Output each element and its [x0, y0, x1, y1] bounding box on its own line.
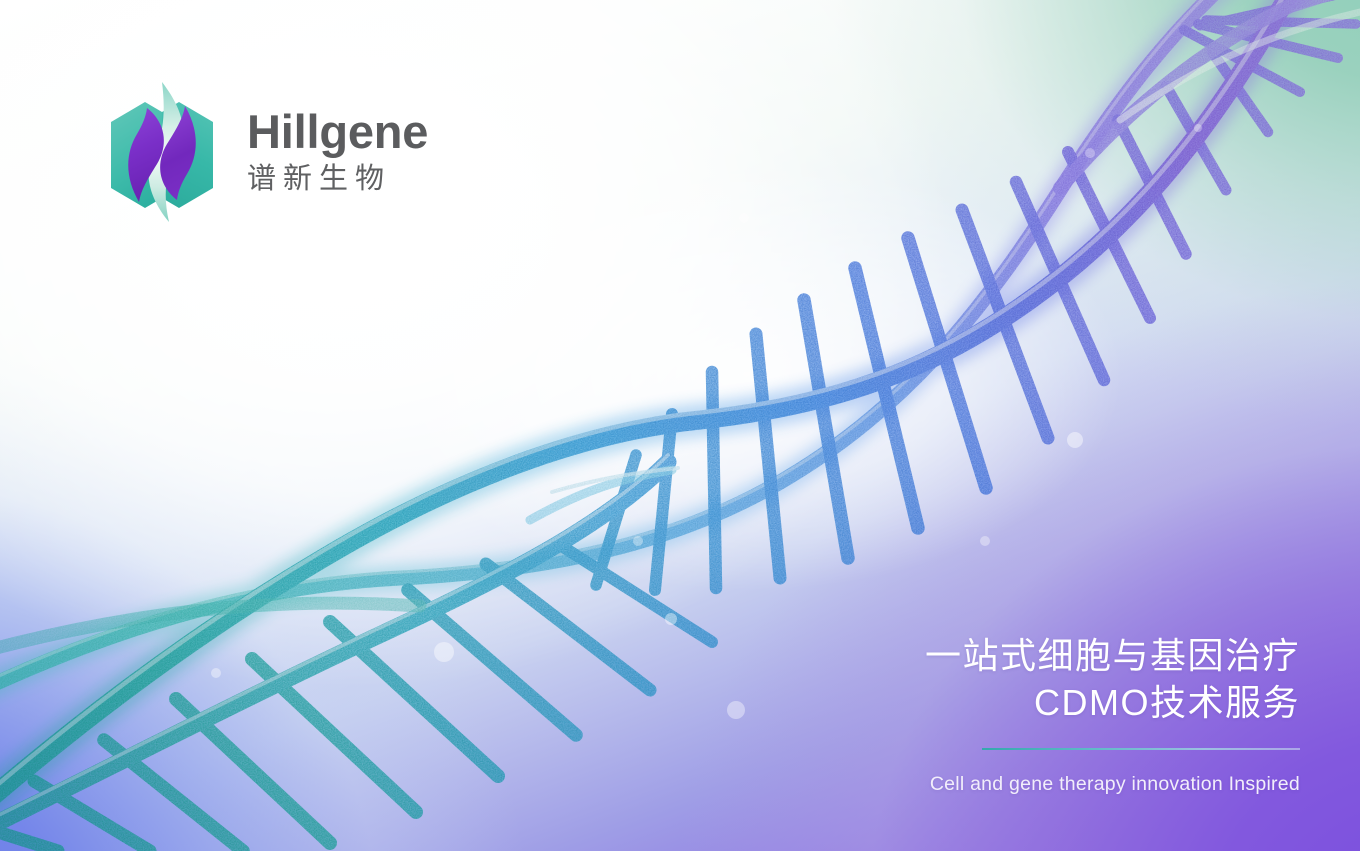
tagline-english: Cell and gene therapy innovation Inspire… — [880, 773, 1300, 796]
tagline-chinese-line-1: 一站式细胞与基因治疗 — [880, 633, 1300, 680]
brand-name-chinese: 谱新生物 — [247, 164, 428, 196]
hillgene-hexagon-helix-mark — [103, 78, 221, 226]
tagline-block: 一站式细胞与基因治疗 CDMO技术服务 Cell and gene therap… — [880, 633, 1300, 796]
brand-logo-lockup[interactable]: Hillgene 谱新生物 — [103, 78, 428, 226]
tagline-divider-rule — [982, 748, 1300, 750]
logo-text-group: Hillgene 谱新生物 — [247, 108, 428, 196]
tagline-chinese-line-2: CDMO技术服务 — [880, 680, 1300, 727]
brand-wordmark: Hillgene — [247, 108, 428, 157]
hillgene-hero-banner: Hillgene 谱新生物 一站式细胞与基因治疗 CDMO技术服务 Cell a… — [0, 0, 1360, 851]
